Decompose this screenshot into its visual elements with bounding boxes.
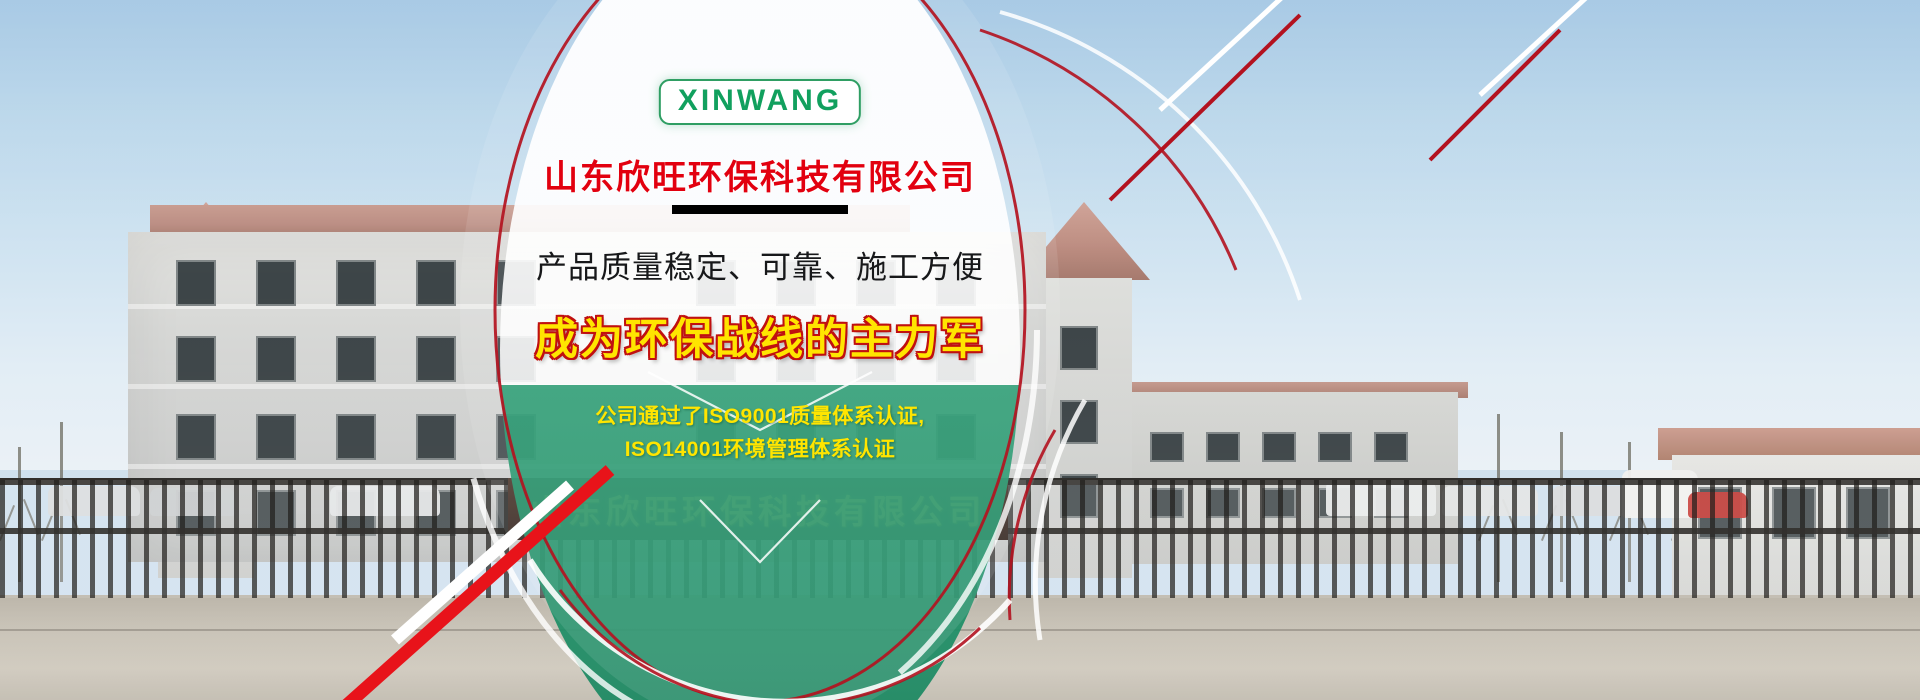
brand-badge-label: XINWANG [678, 84, 842, 117]
company-name: 山东欣旺环保科技有限公司 [544, 150, 976, 199]
chevron-decoration-bottom [500, 496, 1020, 576]
banner-subtitle: 产品质量稳定、可靠、施工方便 [536, 242, 984, 287]
hero-banner: 山东欣旺环保科技有限公司 [0, 0, 1920, 700]
certification-line-2: ISO14001环境管理体系认证 [520, 433, 1000, 466]
banner-headline: 成为环保战线的主力军 [535, 305, 985, 367]
banner-content: XINWANG 山东欣旺环保科技有限公司 产品质量稳定、可靠、施工方便 成为环保… [500, 0, 1020, 700]
certification-text: 公司通过了ISO9001质量体系认证, ISO14001环境管理体系认证 [520, 400, 1000, 466]
certification-line-1: 公司通过了ISO9001质量体系认证, [520, 400, 1000, 433]
brand-badge: XINWANG [659, 79, 861, 125]
title-divider [672, 205, 848, 214]
